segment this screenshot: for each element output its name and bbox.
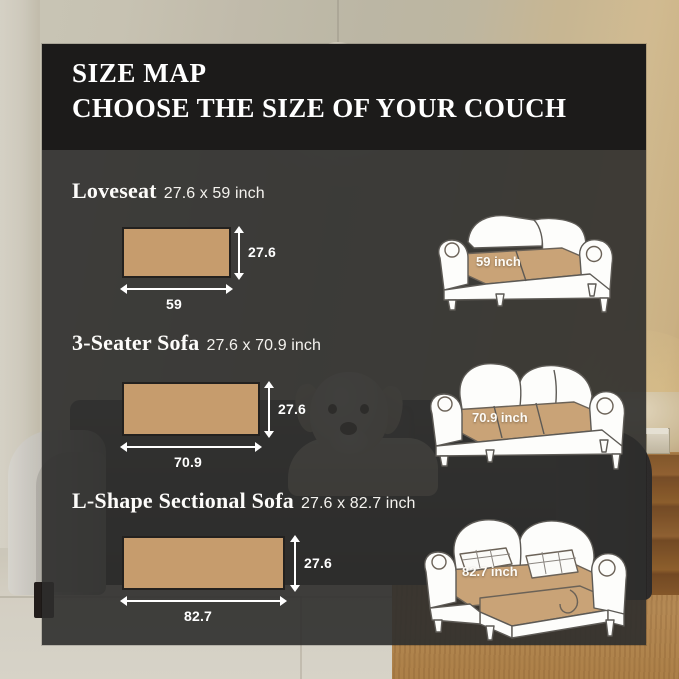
height-label-3seater: 27.6 bbox=[278, 401, 306, 417]
width-label-sectional: 82.7 bbox=[184, 608, 212, 624]
row-dimensions-loveseat: 27.6 x 59 inch bbox=[164, 185, 265, 202]
size-rectangle-sectional bbox=[122, 536, 285, 590]
height-arrow-sectional bbox=[290, 535, 300, 592]
row-heading: 3-Seater Sofa27.6 x 70.9 inch bbox=[72, 330, 321, 356]
width-arrow-sectional bbox=[120, 596, 287, 606]
row-heading: L-Shape Sectional Sofa27.6 x 82.7 inch bbox=[72, 488, 416, 514]
size-row-loveseat: Loveseat27.6 x 59 inch 27.6 59 bbox=[42, 178, 646, 328]
panel-header: SIZE MAP CHOOSE THE SIZE OF YOUR COUCH bbox=[42, 44, 646, 150]
illustration-loveseat: 59 inch bbox=[430, 198, 630, 318]
height-arrow-loveseat bbox=[234, 226, 244, 280]
size-row-3seater: 3-Seater Sofa27.6 x 70.9 inch 27.6 70.9 bbox=[42, 330, 646, 486]
height-arrow-3seater bbox=[264, 381, 274, 438]
page-title: SIZE MAP bbox=[72, 58, 646, 90]
width-arrow-3seater bbox=[120, 442, 262, 452]
page-subtitle: CHOOSE THE SIZE OF YOUR COUCH bbox=[72, 92, 646, 126]
width-label-loveseat: 59 bbox=[166, 296, 182, 312]
row-name-loveseat: Loveseat bbox=[72, 178, 157, 203]
row-name-sectional: L-Shape Sectional Sofa bbox=[72, 488, 294, 513]
illustration-sectional: 82.7 inch bbox=[420, 498, 636, 648]
seat-label-sectional: 82.7 inch bbox=[462, 564, 518, 579]
height-label-sectional: 27.6 bbox=[304, 555, 332, 571]
size-rectangle-loveseat bbox=[122, 227, 231, 278]
row-dimensions-3seater: 27.6 x 70.9 inch bbox=[206, 337, 321, 354]
row-heading: Loveseat27.6 x 59 inch bbox=[72, 178, 265, 204]
illustration-3seater: 70.9 inch bbox=[424, 348, 634, 473]
seat-label-loveseat: 59 inch bbox=[476, 254, 521, 269]
size-map-panel: SIZE MAP CHOOSE THE SIZE OF YOUR COUCH L… bbox=[42, 44, 646, 645]
size-row-sectional: L-Shape Sectional Sofa27.6 x 82.7 inch 2… bbox=[42, 488, 646, 648]
height-label-loveseat: 27.6 bbox=[248, 244, 276, 260]
width-arrow-loveseat bbox=[120, 284, 233, 294]
seat-label-3seater: 70.9 inch bbox=[472, 410, 528, 425]
width-label-3seater: 70.9 bbox=[174, 454, 202, 470]
size-map-image: SIZE MAP CHOOSE THE SIZE OF YOUR COUCH L… bbox=[0, 0, 679, 679]
row-dimensions-sectional: 27.6 x 82.7 inch bbox=[301, 495, 416, 512]
row-name-3seater: 3-Seater Sofa bbox=[72, 330, 199, 355]
size-rectangle-3seater bbox=[122, 382, 260, 436]
